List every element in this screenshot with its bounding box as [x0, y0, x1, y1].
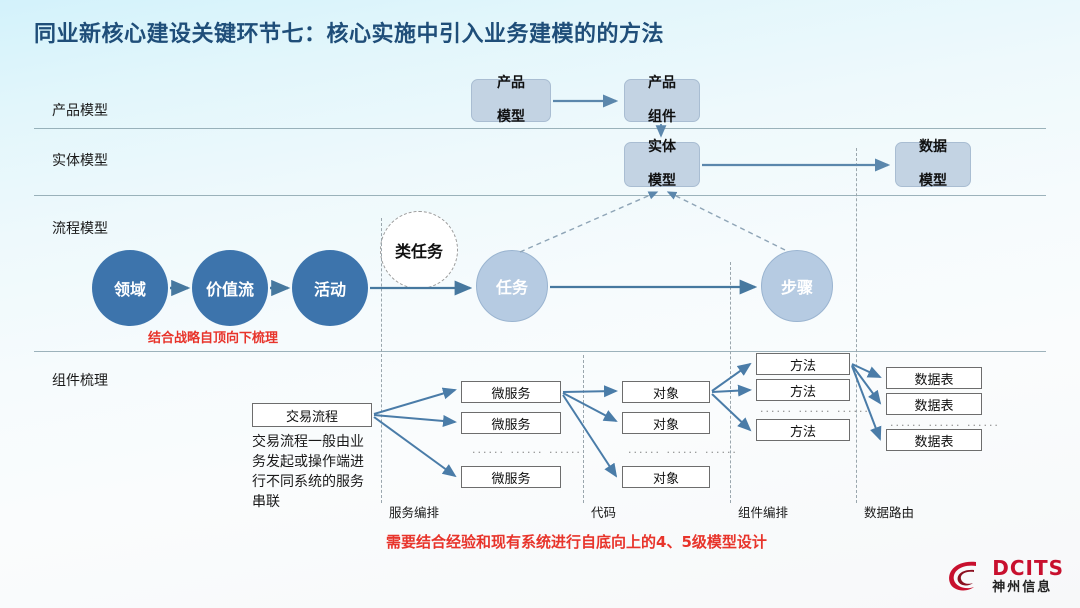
- box-microservice-2-label: 微服务: [491, 414, 530, 433]
- box-data-table-3[interactable]: 数据表: [886, 429, 982, 451]
- box-product-component-line1: 产品: [648, 75, 676, 92]
- box-entity-model[interactable]: 实体 模型: [624, 142, 700, 187]
- dcits-swoosh-icon: [944, 556, 986, 596]
- box-transaction-flow-label: 交易流程: [286, 406, 338, 425]
- circle-value-stream-label: 价值流: [206, 276, 254, 300]
- box-data-table-1[interactable]: 数据表: [886, 367, 982, 389]
- box-microservice-2[interactable]: 微服务: [461, 412, 561, 434]
- ellipsis-microservices: ······ ······ ······: [472, 446, 582, 459]
- box-data-model-line2: 模型: [919, 173, 947, 190]
- box-microservice-3[interactable]: 微服务: [461, 466, 561, 488]
- row-label-product-model: 产品模型: [52, 100, 108, 120]
- box-product-component[interactable]: 产品 组件: [624, 79, 700, 122]
- separator-service-orchestration: [381, 218, 382, 503]
- column-caption-code: 代码: [591, 502, 616, 521]
- box-object-1-label: 对象: [653, 383, 679, 402]
- process-red-note: 结合战略自顶向下梳理: [148, 327, 278, 346]
- box-product-model[interactable]: 产品 模型: [471, 79, 551, 122]
- component-red-note: 需要结合经验和现有系统进行自底向上的4、5级模型设计: [386, 531, 767, 552]
- circle-domain[interactable]: 领域: [92, 250, 168, 326]
- box-method-3-label: 方法: [790, 421, 816, 440]
- box-object-2-label: 对象: [653, 414, 679, 433]
- divider-process-component: [34, 351, 1046, 352]
- box-data-model-line1: 数据: [919, 139, 947, 156]
- ellipsis-objects: ······ ······ ······: [628, 446, 738, 459]
- logo-text: DCITS 神州信息: [992, 558, 1064, 594]
- divider-product-entity: [34, 128, 1046, 129]
- circle-step[interactable]: 步骤: [761, 250, 833, 322]
- divider-entity-process: [34, 195, 1046, 196]
- transaction-flow-note: 交易流程一般由业务发起或操作端进行不同系统的服务串联: [252, 432, 370, 512]
- box-method-3[interactable]: 方法: [756, 419, 850, 441]
- box-microservice-1[interactable]: 微服务: [461, 381, 561, 403]
- logo-text-en: DCITS: [992, 558, 1064, 578]
- box-object-2[interactable]: 对象: [622, 412, 710, 434]
- ellipsis-methods: ······ ······ ······: [760, 405, 870, 418]
- page-title: 同业新核心建设关键环节七：核心实施中引入业务建模的的方法: [34, 16, 664, 48]
- separator-data-routing: [856, 148, 857, 503]
- box-product-model-line1: 产品: [497, 75, 525, 92]
- box-data-table-2-label: 数据表: [914, 395, 953, 414]
- box-method-1[interactable]: 方法: [756, 353, 850, 375]
- box-object-1[interactable]: 对象: [622, 381, 710, 403]
- box-method-1-label: 方法: [790, 355, 816, 374]
- column-caption-service-orchestration: 服务编排: [389, 502, 439, 521]
- circle-class-task-label: 类任务: [395, 238, 443, 262]
- box-data-table-2[interactable]: 数据表: [886, 393, 982, 415]
- circle-step-label: 步骤: [781, 274, 813, 298]
- box-product-component-line2: 组件: [648, 109, 676, 126]
- box-entity-model-line2: 模型: [648, 173, 676, 190]
- box-data-table-1-label: 数据表: [914, 369, 953, 388]
- circle-domain-label: 领域: [114, 276, 146, 300]
- logo-text-cn: 神州信息: [992, 581, 1064, 594]
- box-entity-model-line1: 实体: [648, 139, 676, 156]
- row-label-entity-model: 实体模型: [52, 150, 108, 170]
- circle-class-task[interactable]: 类任务: [380, 211, 458, 289]
- column-caption-component-orchestration: 组件编排: [738, 502, 788, 521]
- company-logo: DCITS 神州信息: [944, 556, 1064, 596]
- circle-activity[interactable]: 活动: [292, 250, 368, 326]
- separator-code: [583, 355, 584, 503]
- box-method-2[interactable]: 方法: [756, 379, 850, 401]
- box-method-2-label: 方法: [790, 381, 816, 400]
- row-label-component-sorting: 组件梳理: [52, 370, 108, 390]
- column-caption-data-routing: 数据路由: [864, 502, 914, 521]
- box-microservice-3-label: 微服务: [491, 468, 530, 487]
- row-label-process-model: 流程模型: [52, 218, 108, 238]
- slide-canvas: 同业新核心建设关键环节七：核心实施中引入业务建模的的方法 产品模型 实体模型 流…: [0, 0, 1080, 608]
- circle-activity-label: 活动: [314, 276, 346, 300]
- separator-component-orchestration: [730, 262, 731, 503]
- box-product-model-line2: 模型: [497, 109, 525, 126]
- box-object-3[interactable]: 对象: [622, 466, 710, 488]
- circle-task[interactable]: 任务: [476, 250, 548, 322]
- box-microservice-1-label: 微服务: [491, 383, 530, 402]
- circle-value-stream[interactable]: 价值流: [192, 250, 268, 326]
- box-data-model[interactable]: 数据 模型: [895, 142, 971, 187]
- box-transaction-flow[interactable]: 交易流程: [252, 403, 372, 427]
- box-object-3-label: 对象: [653, 468, 679, 487]
- circle-task-label: 任务: [496, 274, 528, 298]
- box-data-table-3-label: 数据表: [914, 431, 953, 450]
